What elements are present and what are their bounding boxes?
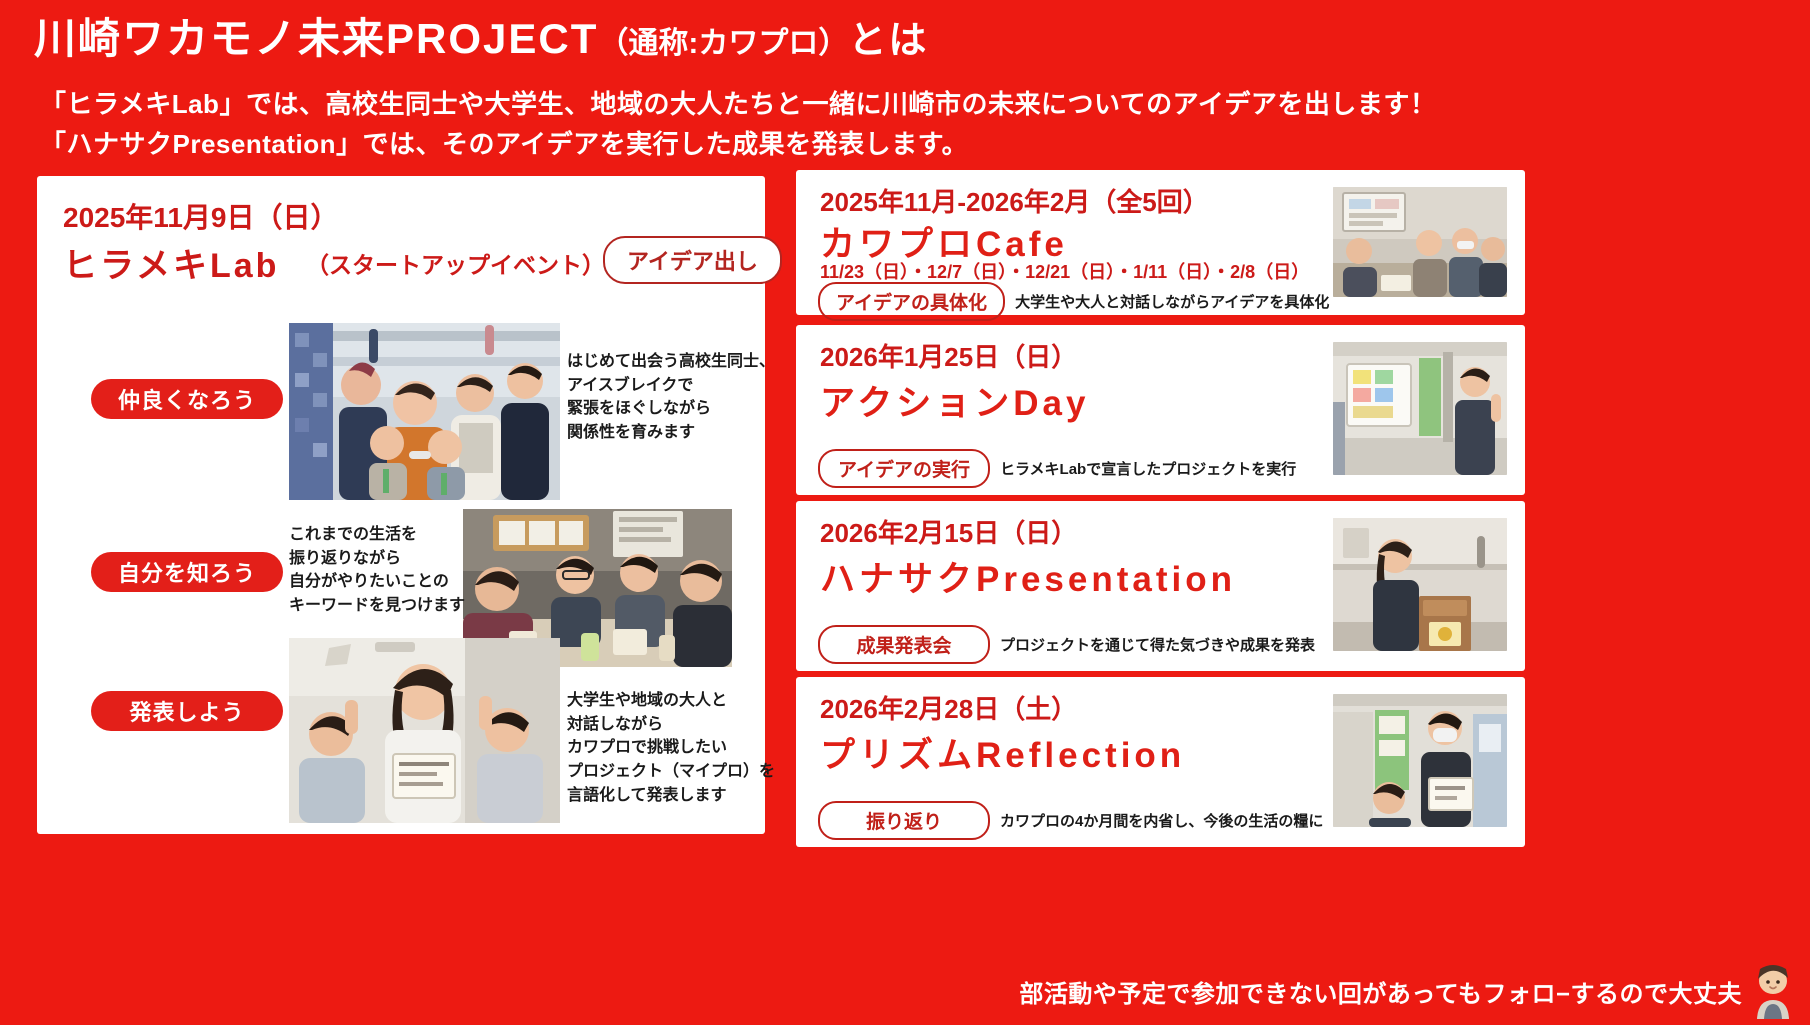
card-badge-row: アイデアの具体化 大学生や大人と対話しながらアイデアを具体化 bbox=[818, 282, 1329, 321]
card-date: 2026年1月25日（日） bbox=[820, 337, 1077, 374]
step-text-make-friends: はじめて出会う高校生同士、アイスブレイクで緊張をほぐしながら関係性を育みます bbox=[567, 350, 775, 445]
card-title: ハナサクPresentation bbox=[820, 551, 1236, 602]
event-card-kawapro-cafe: 2025年11月-2026年2月（全5回） カワプロCafe 11/23（日）・… bbox=[796, 170, 1525, 315]
photo-student-presenting bbox=[289, 638, 560, 823]
card-title: プリズムReflection bbox=[820, 727, 1185, 778]
photo-cafe-meeting-room bbox=[1333, 187, 1507, 297]
card-badge: アイデアの具体化 bbox=[818, 282, 1005, 321]
step-pill-present: 発表しよう bbox=[91, 691, 283, 731]
card-badge-row: 振り返り カワプロの4か月間を内省し、今後の生活の糧に bbox=[818, 801, 1323, 840]
card-badge: 振り返り bbox=[818, 801, 990, 840]
hirameki-lab-subtitle: （スタートアップイベント） bbox=[306, 246, 605, 280]
card-badge-description: 大学生や大人と対話しながらアイデアを具体化 bbox=[1015, 291, 1329, 312]
card-badge-row: アイデアの実行 ヒラメキLabで宣言したプロジェクトを実行 bbox=[818, 449, 1296, 488]
step-text-know-yourself: これまでの生活を振り返りながら自分がやりたいことのキーワードを見つけます bbox=[289, 523, 465, 618]
card-title: アクションDay bbox=[820, 375, 1089, 426]
card-date: 2025年11月-2026年2月（全5回） bbox=[820, 182, 1209, 219]
page-title-alias: （通称:カワプロ） bbox=[598, 27, 848, 60]
step-pill-make-friends: 仲良くなろう bbox=[91, 379, 283, 419]
hirameki-lab-title: ヒラメキLab bbox=[63, 238, 279, 287]
photo-action-day-whiteboard bbox=[1333, 342, 1507, 475]
hirameki-lab-date: 2025年11月9日（日） bbox=[63, 196, 338, 236]
hirameki-lab-panel: 2025年11月9日（日） ヒラメキLab （スタートアップイベント） アイデア… bbox=[37, 176, 765, 834]
card-badge: アイデアの実行 bbox=[818, 449, 990, 488]
page-title: 川崎ワカモノ未来PROJECT（通称:カワプロ）とは bbox=[34, 14, 928, 65]
card-badge-description: プロジェクトを通じて得た気づきや成果を発表 bbox=[1000, 634, 1315, 655]
event-card-hanasaku-presentation: 2026年2月15日（日） ハナサクPresentation 成果発表会 プロジ… bbox=[796, 501, 1525, 671]
person-avatar-icon bbox=[1750, 965, 1796, 1019]
hirameki-lab-title-row: ヒラメキLab （スタートアップイベント） アイデア出し bbox=[63, 238, 753, 284]
card-date: 2026年2月28日（土） bbox=[820, 689, 1077, 726]
card-session-dates: 11/23（日）・12/7（日）・12/21（日）・1/11（日）・2/8（日） bbox=[820, 258, 1309, 284]
photo-presentation-podium bbox=[1333, 518, 1507, 651]
footer-note: 部活動や予定で参加できない回があってもフォロ−するので大丈夫 bbox=[1019, 974, 1742, 1019]
step-text-present: 大学生や地域の大人と対話しながらカワプロで挑戦したいプロジェクト（マイプロ）を言… bbox=[567, 689, 775, 807]
photo-reflection-certificate bbox=[1333, 694, 1507, 827]
event-card-prism-reflection: 2026年2月28日（土） プリズムReflection 振り返り カワプロの4… bbox=[796, 677, 1525, 847]
page-title-tail: とは bbox=[848, 20, 928, 62]
footer: 部活動や予定で参加できない回があってもフォロ−するので大丈夫 bbox=[1019, 965, 1796, 1019]
card-badge-row: 成果発表会 プロジェクトを通じて得た気づきや成果を発表 bbox=[818, 625, 1315, 664]
page-header: 川崎ワカモノ未来PROJECT（通称:カワプロ）とは 「ヒラメキLab」では、高… bbox=[0, 0, 1810, 172]
card-badge-description: ヒラメキLabで宣言したプロジェクトを実行 bbox=[1000, 458, 1296, 479]
hirameki-lab-badge: アイデア出し bbox=[603, 236, 782, 284]
header-description-line-1: 「ヒラメキLab」では、高校生同士や大学生、地域の大人たちと一緒に川崎市の未来に… bbox=[40, 84, 1436, 121]
card-date: 2026年2月15日（日） bbox=[820, 513, 1077, 550]
card-badge: 成果発表会 bbox=[818, 625, 990, 664]
step-pill-know-yourself: 自分を知ろう bbox=[91, 552, 283, 592]
card-badge-description: カワプロの4か月間を内省し、今後の生活の糧に bbox=[1000, 810, 1323, 831]
photo-group-cheering bbox=[289, 323, 560, 500]
page-title-main: 川崎ワカモノ未来PROJECT bbox=[34, 15, 598, 62]
event-card-action-day: 2026年1月25日（日） アクションDay アイデアの実行 ヒラメキLabで宣… bbox=[796, 325, 1525, 495]
header-description-line-2: 「ハナサクPresentation」では、そのアイデアを実行した成果を発表します… bbox=[40, 124, 968, 161]
